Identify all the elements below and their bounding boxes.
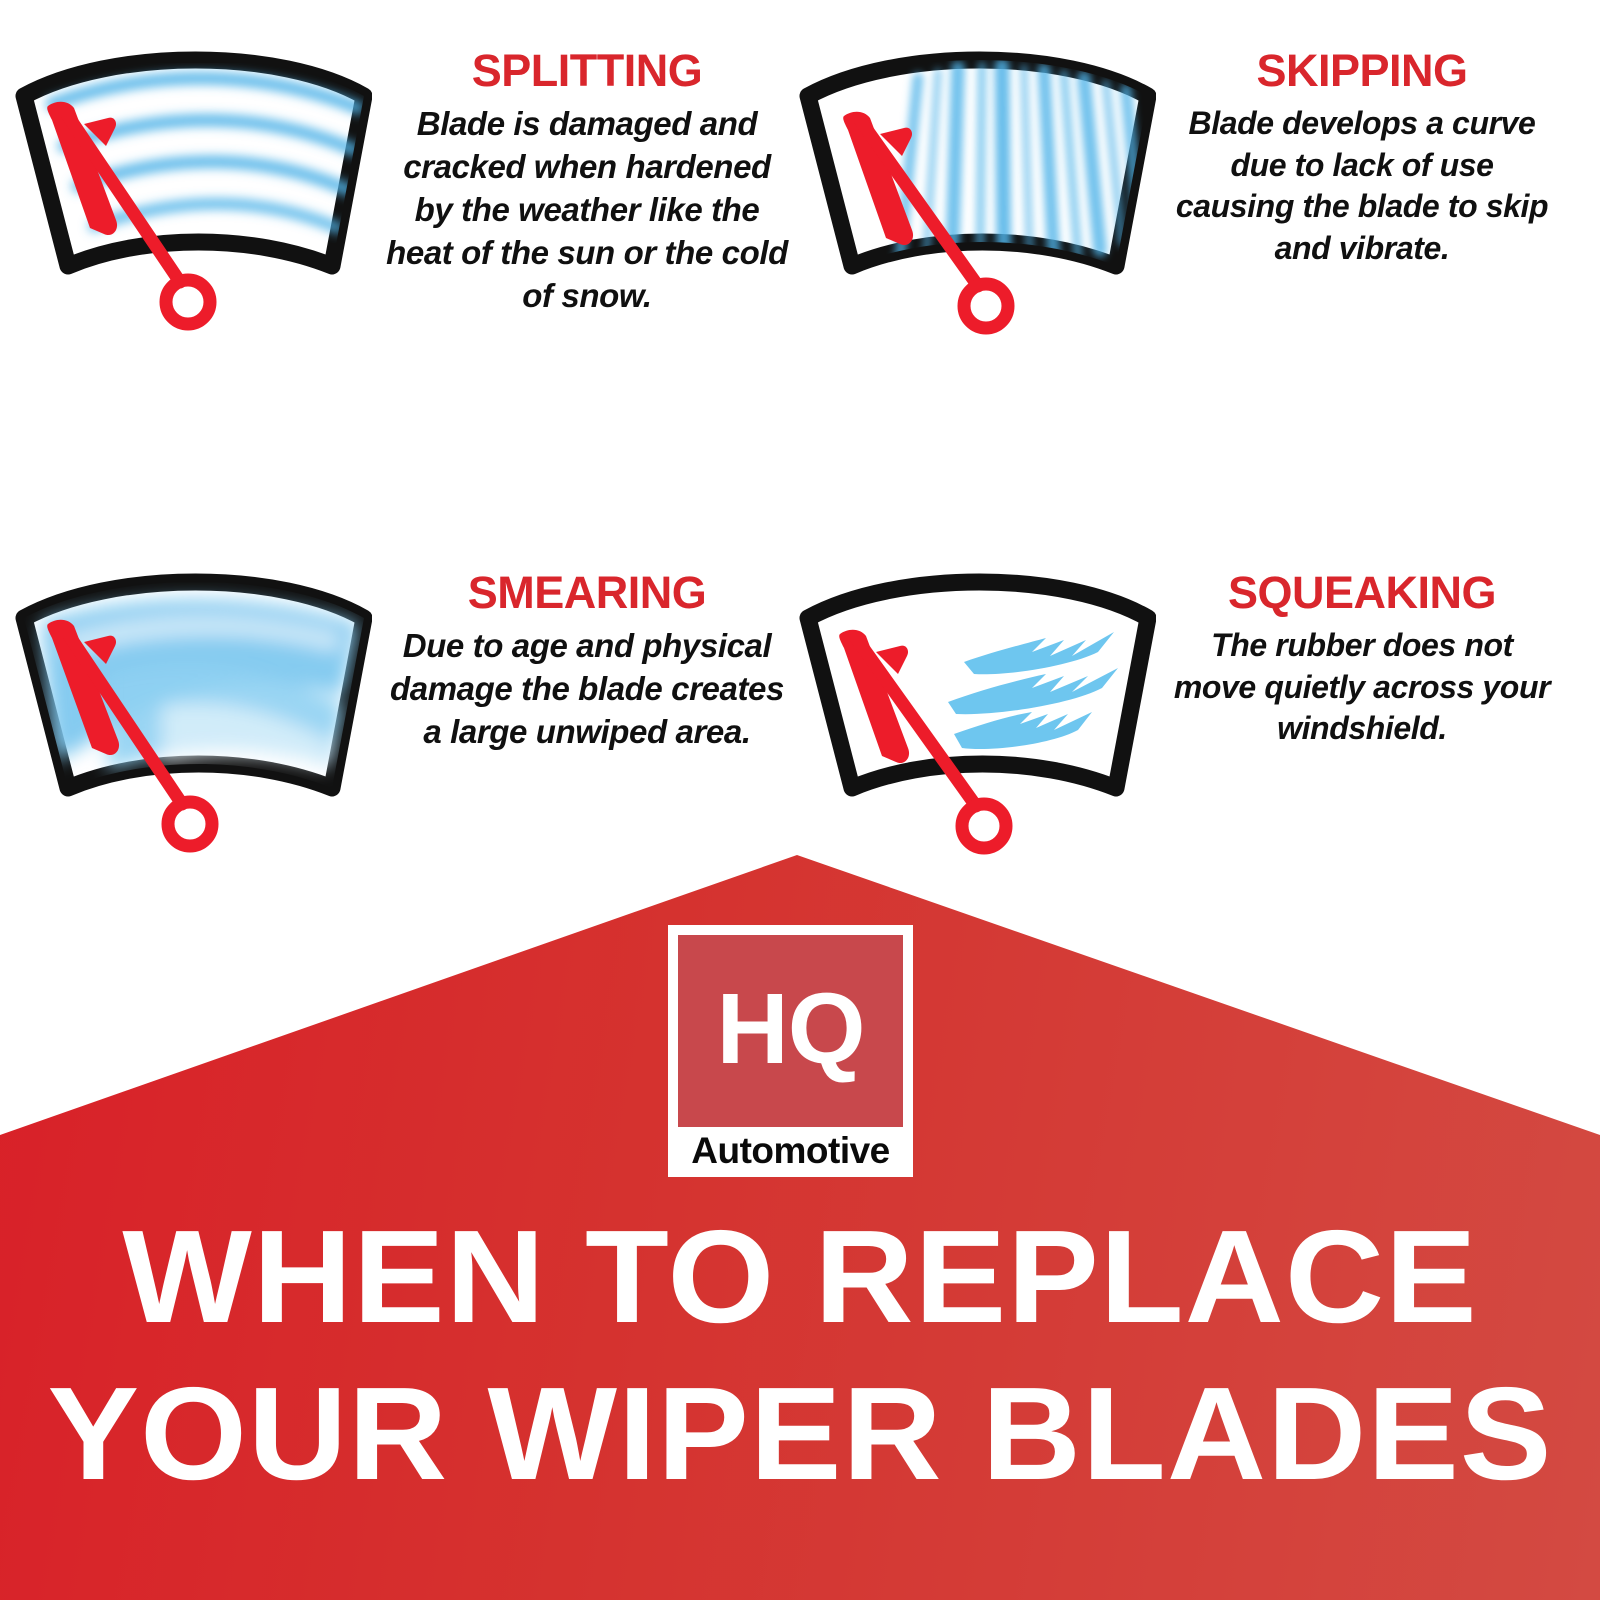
wiper-windshield-icon	[6, 30, 378, 344]
wiper-windshield-smearing-icon	[12, 556, 372, 866]
hq-automotive-logo: HQ Automotive	[668, 925, 913, 1177]
wiper-windshield-splitting-icon	[12, 34, 372, 344]
logo-mark-square: HQ	[678, 935, 903, 1127]
headline: WHEN TO REPLACE YOUR WIPER BLADES	[0, 1210, 1600, 1501]
wiper-windshield-icon	[790, 552, 1162, 866]
symptom-title: SKIPPING	[1162, 48, 1562, 93]
logo-brand-name: Automotive	[678, 1127, 903, 1173]
symptom-description: Blade is damaged and cracked when harden…	[378, 103, 796, 317]
logo-mark-text: HQ	[717, 979, 865, 1079]
wiper-windshield-skipping-icon	[796, 34, 1156, 344]
symptom-title: SPLITTING	[378, 48, 796, 93]
symptom-description: The rubber does not move quietly across …	[1162, 625, 1562, 750]
symptom-title: SQUEAKING	[1162, 570, 1562, 615]
symptom-text-block: SPLITTING Blade is damaged and cracked w…	[378, 30, 796, 317]
symptom-description: Due to age and physical damage the blade…	[378, 625, 796, 754]
symptom-title: SMEARING	[378, 570, 796, 615]
symptom-text-block: SMEARING Due to age and physical damage …	[378, 552, 796, 754]
symptom-panel-grid: SPLITTING Blade is damaged and cracked w…	[0, 0, 1600, 880]
symptom-text-block: SKIPPING Blade develops a curve due to l…	[1162, 30, 1580, 269]
headline-line-2: YOUR WIPER BLADES	[0, 1367, 1600, 1502]
symptom-description: Blade develops a curve due to lack of us…	[1162, 103, 1562, 269]
symptom-panel-splitting: SPLITTING Blade is damaged and cracked w…	[6, 30, 796, 450]
symptom-text-block: SQUEAKING The rubber does not move quiet…	[1162, 552, 1580, 750]
wiper-windshield-squeaking-icon	[796, 556, 1156, 866]
symptom-panel-skipping: SKIPPING Blade develops a curve due to l…	[790, 30, 1580, 450]
headline-line-1: WHEN TO REPLACE	[0, 1210, 1600, 1345]
wiper-windshield-icon	[6, 552, 378, 866]
wiper-windshield-icon	[790, 30, 1162, 344]
